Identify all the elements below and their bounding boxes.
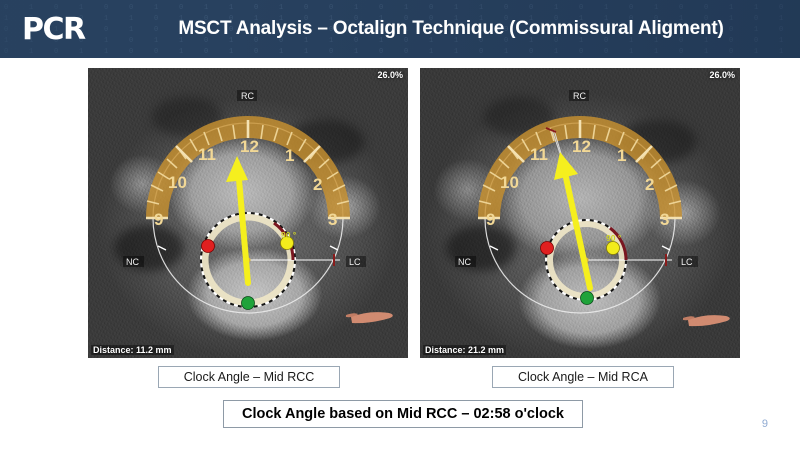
distance-readout-right: Distance: 21.2 mm [423, 345, 506, 355]
clock-number-10: 10 [500, 173, 519, 192]
clock-number-1: 1 [285, 146, 294, 165]
clock-number-2: 2 [313, 175, 322, 194]
clock-number-9: 9 [486, 210, 495, 229]
ct-image-left[interactable]: 9 10 11 12 1 2 3 90 ° RC [88, 68, 408, 358]
coronary-highlight-icon [683, 315, 730, 326]
cusp-label-nc: NC [126, 257, 139, 267]
nc-tick [158, 246, 166, 250]
clock-number-2: 2 [645, 175, 654, 194]
clock-number-10: 10 [168, 173, 187, 192]
yellow-marker [607, 242, 620, 255]
octalign-overlay-left: 9 10 11 12 1 2 3 90 ° RC [88, 68, 408, 358]
green-marker [581, 292, 594, 305]
clock-number-12: 12 [240, 137, 259, 156]
clock-number-3: 3 [660, 210, 669, 229]
lc-tick [330, 246, 338, 250]
slide-header: 0 1 0 1 0 0 1 0 1 1 0 1 0 0 1 0 1 0 1 1 … [0, 0, 800, 58]
cusp-label-nc: NC [458, 257, 471, 267]
pcr-logo: PCR [22, 12, 85, 47]
clock-number-11: 11 [198, 145, 216, 164]
zoom-percentage-left: 26.0% [377, 70, 403, 80]
distance-readout-left: Distance: 11.2 mm [91, 345, 174, 355]
caption-right: Clock Angle – Mid RCA [492, 366, 674, 388]
angle-value-label-left: 90 ° [281, 230, 297, 240]
lc-tick [662, 246, 670, 250]
cusp-label-rc: RC [241, 91, 254, 101]
cusp-label-rc: RC [573, 91, 586, 101]
red-marker [202, 240, 215, 253]
ct-image-right[interactable]: 9 10 11 12 1 2 3 90 ° RC [420, 68, 740, 358]
clock-number-12: 12 [572, 137, 591, 156]
cusp-label-lc: LC [681, 257, 693, 267]
clock-number-3: 3 [328, 210, 337, 229]
clock-number-11: 11 [530, 145, 548, 164]
green-marker [242, 297, 255, 310]
page-number: 9 [762, 418, 768, 430]
coronary-highlight-icon [346, 312, 393, 323]
clock-number-1: 1 [617, 146, 626, 165]
angle-value-label-right: 90 ° [606, 233, 622, 243]
cusp-label-lc: LC [349, 257, 361, 267]
page-title: MSCT Analysis – Octalign Technique (Comm… [110, 0, 792, 58]
red-marker [541, 242, 554, 255]
clock-number-9: 9 [154, 210, 163, 229]
octalign-overlay-right: 9 10 11 12 1 2 3 90 ° RC [420, 68, 740, 358]
caption-left: Clock Angle – Mid RCC [158, 366, 340, 388]
zoom-percentage-right: 26.0% [709, 70, 735, 80]
summary-box: Clock Angle based on Mid RCC – 02:58 o'c… [223, 400, 583, 428]
nc-tick [490, 246, 498, 250]
